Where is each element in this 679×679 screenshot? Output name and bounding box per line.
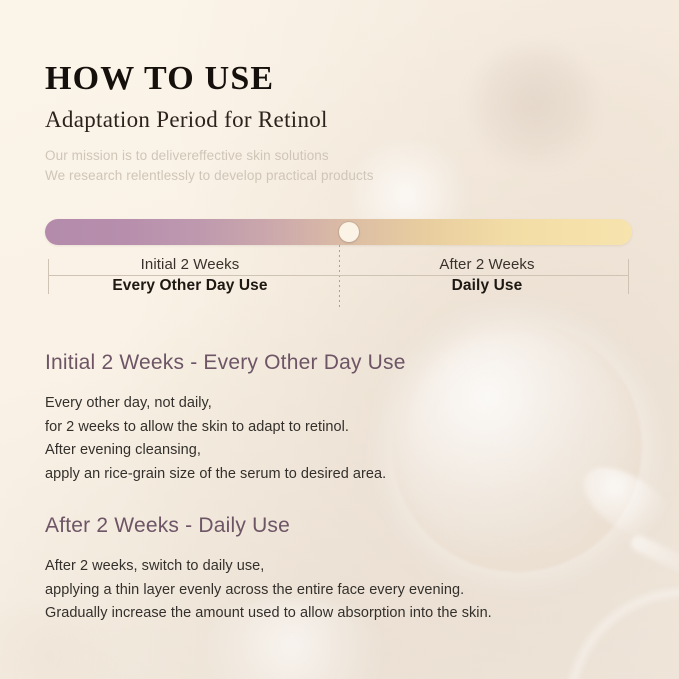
timeline-segment-after: After 2 Weeks Daily Use	[342, 256, 632, 295]
section-after-two-weeks: After 2 Weeks - Daily Use After 2 weeks,…	[45, 514, 492, 626]
section-initial-body: Every other day, not daily, for 2 weeks …	[45, 392, 406, 486]
timeline-gradient-track[interactable]	[45, 219, 632, 245]
section-initial-two-weeks: Initial 2 Weeks - Every Other Day Use Ev…	[45, 351, 406, 486]
mission-line-2: We research relentlessly to develop prac…	[45, 166, 374, 186]
section-after-body: After 2 weeks, switch to daily use, appl…	[45, 555, 492, 626]
section-initial-heading: Initial 2 Weeks - Every Other Day Use	[45, 351, 406, 375]
timeline-divider-dotted-line	[339, 245, 340, 307]
timeline-knob-handle[interactable]	[339, 222, 359, 242]
section-after-line-1: After 2 weeks, switch to daily use,	[45, 555, 492, 579]
timeline-segment-initial-period: Initial 2 Weeks	[45, 256, 335, 273]
section-initial-line-3: After evening cleansing,	[45, 439, 406, 463]
timeline-segment-initial-usage: Every Other Day Use	[45, 277, 335, 295]
serum-droplet-stem	[628, 533, 679, 580]
timeline-segment-after-period: After 2 Weeks	[342, 256, 632, 273]
timeline-segment-initial: Initial 2 Weeks Every Other Day Use	[45, 256, 335, 295]
mission-statement: Our mission is to delivereffective skin …	[45, 146, 374, 186]
section-initial-line-1: Every other day, not daily,	[45, 392, 406, 416]
how-to-use-infographic: HOW TO USE Adaptation Period for Retinol…	[0, 0, 679, 679]
section-after-heading: After 2 Weeks - Daily Use	[45, 514, 492, 538]
adaptation-timeline: Initial 2 Weeks Every Other Day Use Afte…	[45, 219, 632, 245]
page-title: HOW TO USE	[45, 60, 274, 98]
section-after-line-3: Gradually increase the amount used to al…	[45, 602, 492, 626]
background-blur-shape-top-right	[470, 48, 600, 168]
page-subtitle: Adaptation Period for Retinol	[45, 107, 328, 133]
section-initial-line-4: apply an rice-grain size of the serum to…	[45, 463, 406, 487]
mission-line-1: Our mission is to delivereffective skin …	[45, 146, 374, 166]
section-after-line-2: applying a thin layer evenly across the …	[45, 579, 492, 603]
section-initial-line-2: for 2 weeks to allow the skin to adapt t…	[45, 416, 406, 440]
background-arc	[566, 588, 679, 679]
timeline-segment-after-usage: Daily Use	[342, 277, 632, 295]
